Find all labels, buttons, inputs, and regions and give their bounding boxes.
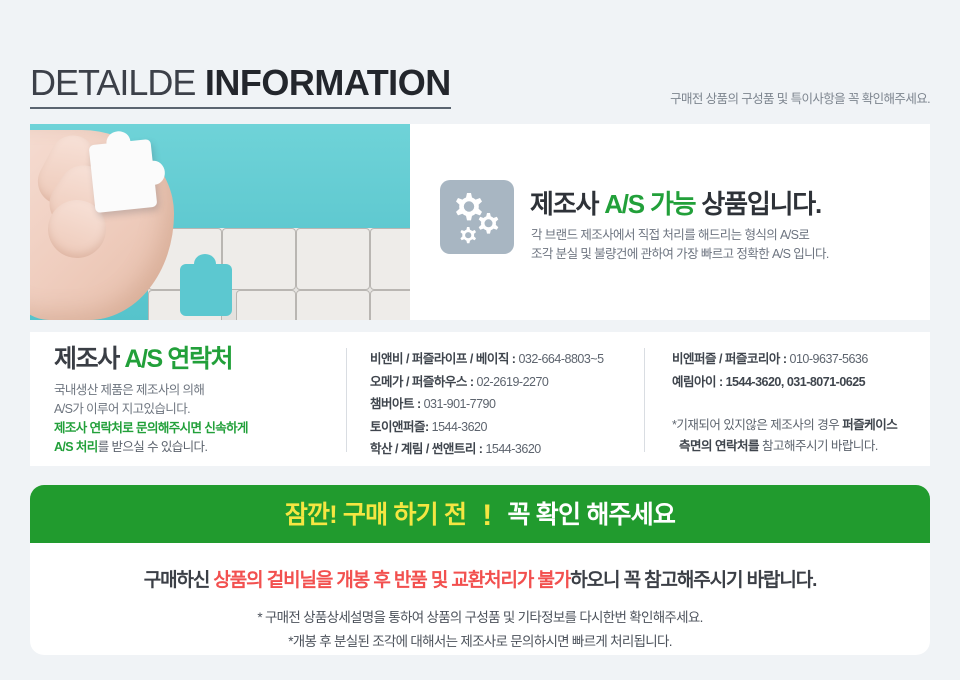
- contact-desc-line4-rest: 를 받으실 수 있습니다.: [98, 440, 208, 454]
- column-divider: [644, 348, 645, 452]
- contact-list-middle: 비앤비 / 퍼즐라이프 / 베이직 : 032-664-8803~5 오메가 /…: [370, 348, 640, 461]
- page-title-bold: INFORMATION: [205, 62, 451, 103]
- footer-main-post: 하오니 꼭 참고해주시기 바랍니다.: [570, 570, 816, 591]
- contact-number: 010-9637-5636: [790, 352, 868, 366]
- contact-footnote: *기재되어 있지않은 제조사의 경우 퍼즐케이스 측면의 연락처를 참고해주시기…: [672, 415, 932, 457]
- contact-brand: 오메가 / 퍼즐하우스 :: [370, 375, 477, 389]
- column-divider: [346, 348, 347, 452]
- contact-heading-accent: A/S 연락처: [124, 345, 232, 373]
- notice-banner-right: 꼭 확인 해주세요: [507, 501, 675, 529]
- contact-footnote-bold1: 퍼즐케이스: [842, 418, 897, 432]
- manufacturer-contact-panel: 제조사 A/S 연락처 국내생산 제품은 제조사의 의해 A/S가 이루어 지고…: [30, 332, 930, 466]
- page-title-light: DETAILDE: [30, 62, 195, 103]
- contact-intro-column: 제조사 A/S 연락처 국내생산 제품은 제조사의 의해 A/S가 이루어 지고…: [54, 342, 304, 457]
- contact-row: 비앤비 / 퍼즐라이프 / 베이직 : 032-664-8803~5: [370, 348, 640, 371]
- footer-main-pre: 구매하신: [144, 570, 214, 591]
- footer-main-red: 상품의 겉비닐을 개봉 후 반품 및 교환처리가 불가: [213, 570, 570, 591]
- footer-subnote-line2: *개봉 후 분실된 조각에 대해서는 제조사로 문의하시면 빠르게 처리됩니다.: [30, 630, 930, 654]
- contact-number: 1544-3620: [485, 442, 540, 456]
- contact-number: 032-664-8803~5: [518, 352, 603, 366]
- contact-desc-line3: 제조사 연락처로 문의해주시면 신속하게: [54, 419, 304, 438]
- hero-subtext-line1: 각 브랜드 제조사에서 직접 처리를 해드리는 형식의 A/S로: [531, 226, 829, 245]
- contact-row: 오메가 / 퍼즐하우스 : 02-2619-2270: [370, 371, 640, 394]
- puzzle-piece-gap: [180, 264, 232, 316]
- contact-description: 국내생산 제품은 제조사의 의해 A/S가 이루어 지고있습니다. 제조사 연락…: [54, 381, 304, 457]
- notice-banner-left: 잠깐! 구매 하기 전: [285, 501, 466, 529]
- contact-brand: 비엔퍼즐 / 퍼즐코리아 :: [672, 352, 790, 366]
- footer-subnotes: * 구매전 상품상세설명을 통하여 상품의 구성품 및 기타정보를 다시한번 확…: [30, 606, 930, 654]
- contact-brand: 예림아이 :: [672, 375, 726, 389]
- puzzle-piece: [236, 290, 296, 320]
- puzzle-piece: [370, 290, 410, 320]
- hero-section: 제조사 A/S 가능 상품입니다. 각 브랜드 제조사에서 직접 처리를 해드리…: [30, 124, 930, 320]
- contact-brand: 비앤비 / 퍼즐라이프 / 베이직 :: [370, 352, 518, 366]
- puzzle-hand-photo: [30, 124, 410, 320]
- puzzle-piece: [296, 290, 370, 320]
- page-title-wrap: DETAILDE INFORMATION: [30, 62, 451, 109]
- contact-number: 031-901-7790: [424, 397, 496, 411]
- contact-number: 1544-3620, 031-8071-0625: [726, 375, 866, 389]
- exclamation-icon: !: [466, 499, 507, 532]
- contact-heading: 제조사 A/S 연락처: [54, 342, 304, 376]
- page-header: DETAILDE INFORMATION 구매전 상품의 구성품 및 특이사항을…: [30, 62, 930, 114]
- puzzle-piece: [370, 228, 410, 290]
- held-puzzle-piece: [89, 139, 158, 213]
- contact-row: 학산 / 계림 / 썬앤트리 : 1544-3620: [370, 438, 640, 461]
- hero-heading-post: 상품입니다.: [695, 189, 821, 219]
- hero-heading-accent: A/S 가능: [604, 189, 695, 219]
- hero-subtext-line2: 조각 분실 및 불량건에 관하여 가장 빠르고 정확한 A/S 입니다.: [531, 245, 829, 264]
- contact-footnote-pre: *기재되어 있지않은 제조사의 경우: [672, 418, 842, 432]
- contact-heading-pre: 제조사: [54, 345, 124, 373]
- contact-row: 예림아이 : 1544-3620, 031-8071-0625: [672, 371, 932, 394]
- gears-icon: [440, 180, 514, 254]
- hero-subtext: 각 브랜드 제조사에서 직접 처리를 해드리는 형식의 A/S로 조각 분실 및…: [531, 226, 829, 264]
- contact-list-right: 비엔퍼즐 / 퍼즐코리아 : 010-9637-5636 예림아이 : 1544…: [672, 348, 932, 457]
- footer-subnote-line1: * 구매전 상품상세설명을 통하여 상품의 구성품 및 기타정보를 다시한번 확…: [30, 606, 930, 630]
- footer-notice-panel: 구매하신 상품의 겉비닐을 개봉 후 반품 및 교환처리가 불가하오니 꼭 참고…: [30, 543, 930, 655]
- contact-desc-line4-em: A/S 처리: [54, 440, 98, 454]
- hero-heading-pre: 제조사: [530, 189, 604, 219]
- contact-number: 02-2619-2270: [477, 375, 549, 389]
- contact-footnote-line2: 측면의 연락처를 참고해주시기 바랍니다.: [672, 436, 932, 457]
- page-title: DETAILDE INFORMATION: [30, 62, 451, 104]
- contact-desc-line1: 국내생산 제품은 제조사의 의해: [54, 381, 304, 400]
- header-note: 구매전 상품의 구성품 및 특이사항을 꼭 확인해주세요.: [670, 88, 930, 107]
- contact-number: 1544-3620: [432, 420, 487, 434]
- contact-row: 챔버아트 : 031-901-7790: [370, 393, 640, 416]
- notice-banner-text: 잠깐! 구매 하기 전!꼭 확인 해주세요: [285, 495, 675, 533]
- footer-main-warning: 구매하신 상품의 겉비닐을 개봉 후 반품 및 교환처리가 불가하오니 꼭 참고…: [30, 565, 930, 592]
- contact-desc-line4: A/S 처리를 받으실 수 있습니다.: [54, 438, 304, 457]
- hero-heading: 제조사 A/S 가능 상품입니다.: [530, 184, 821, 221]
- notice-banner: 잠깐! 구매 하기 전!꼭 확인 해주세요: [30, 485, 930, 543]
- contact-footnote-rest: 참고해주시기 바랍니다.: [759, 439, 878, 453]
- detail-information-page: DETAILDE INFORMATION 구매전 상품의 구성품 및 특이사항을…: [0, 0, 960, 680]
- contact-row: 토이앤퍼즐: 1544-3620: [370, 416, 640, 439]
- contact-desc-line2: A/S가 이루어 지고있습니다.: [54, 400, 304, 419]
- contact-footnote-bold2: 측면의 연락처를: [679, 439, 759, 453]
- puzzle-piece: [296, 228, 370, 290]
- contact-brand: 토이앤퍼즐:: [370, 420, 432, 434]
- contact-brand: 학산 / 계림 / 썬앤트리 :: [370, 442, 485, 456]
- puzzle-piece: [222, 228, 296, 290]
- contact-brand: 챔버아트 :: [370, 397, 424, 411]
- hero-text-block: 제조사 A/S 가능 상품입니다. 각 브랜드 제조사에서 직접 처리를 해드리…: [530, 124, 930, 320]
- contact-row: 비엔퍼즐 / 퍼즐코리아 : 010-9637-5636: [672, 348, 932, 371]
